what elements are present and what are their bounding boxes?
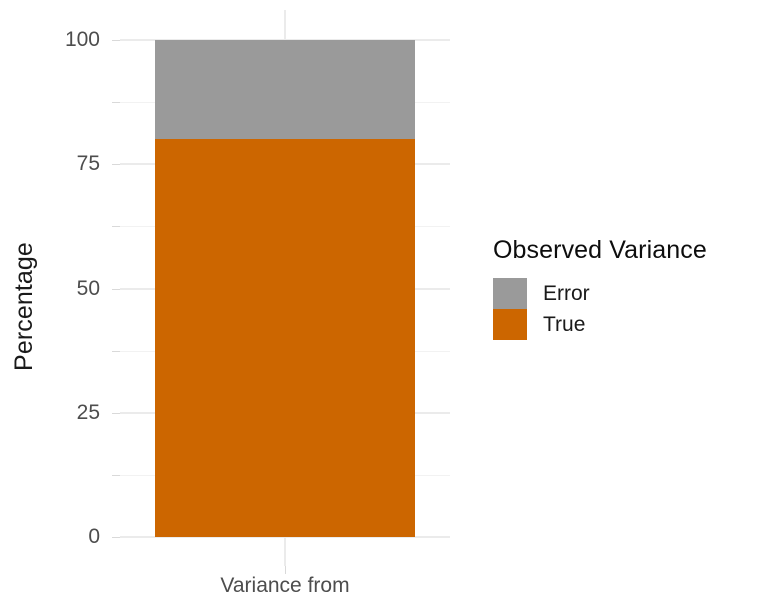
legend-item-label: True [543,313,585,337]
y-axis-tick-mark [112,102,120,103]
legend-key-swatch [493,278,527,309]
y-axis-tick-mark [112,289,120,290]
legend-key-swatch [493,309,527,340]
legend-item[interactable]: True [493,309,753,340]
x-axis-tick-mark [285,566,286,574]
y-axis-tick-label: 0 [44,525,100,549]
y-axis-tick-label: 100 [44,28,100,52]
y-axis-tick-mark [112,40,120,41]
chart-container: Percentage 1007550250 Variance from Obse… [0,0,768,613]
x-axis-tick-marks [120,566,450,574]
y-axis-tick-label: 25 [44,401,100,425]
y-axis-tick-mark [112,475,120,476]
bar-segment-true[interactable] [155,139,416,537]
y-axis-tick-mark [112,351,120,352]
y-axis-tick-mark [112,413,120,414]
y-axis-tick-mark [112,537,120,538]
y-axis-tick-mark [112,226,120,227]
legend-item-label: Error [543,282,590,306]
plot-panel [120,10,450,566]
legend-item[interactable]: Error [493,278,753,309]
bar-segment-error[interactable] [155,40,416,139]
x-axis-tick-labels: Variance from [120,574,450,608]
y-axis-tick-mark [112,164,120,165]
legend-title: Observed Variance [493,236,753,265]
y-axis-tick-label: 50 [44,277,100,301]
y-axis-tick-label: 75 [44,152,100,176]
legend: Observed Variance ErrorTrue [493,236,753,340]
y-axis-title: Percentage [0,0,48,613]
x-axis-tick-label: Variance from [220,574,349,598]
y-axis-tick-labels: 1007550250 [44,0,100,613]
legend-items: ErrorTrue [493,278,753,340]
y-axis-title-text: Percentage [10,242,39,371]
y-axis-tick-marks [112,0,120,613]
